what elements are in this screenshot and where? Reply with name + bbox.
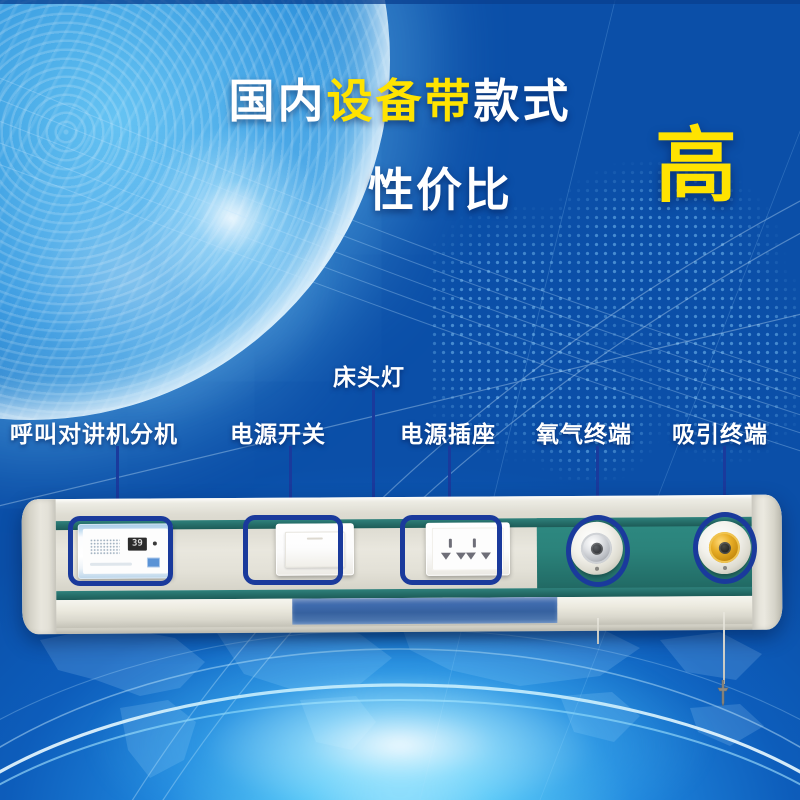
highlight-power-switch [243, 515, 343, 585]
panel-end-cap-right [752, 495, 783, 630]
highlight-oxygen [566, 515, 630, 587]
pull-cord-handle-icon[interactable] [716, 680, 730, 706]
promo-banner: 国内设备带款式 性价比 高 呼叫对讲机分机 电源开关 床头灯 电源插座 氧气终端… [0, 0, 800, 800]
highlight-suction [693, 512, 757, 584]
callout-label-suction: 吸引终端 [672, 415, 768, 449]
highlight-intercom [68, 516, 173, 586]
highlight-power-socket [400, 515, 502, 585]
callout-label-oxygen: 氧气终端 [536, 415, 632, 449]
oxygen-pull-cord [597, 618, 599, 644]
bed-lamp-diffuser[interactable] [292, 597, 557, 625]
suction-pull-cord [723, 612, 725, 684]
callout-group: 呼叫对讲机分机 电源开关 床头灯 电源插座 氧气终端 吸引终端 [0, 0, 800, 800]
panel-end-cap-left [22, 499, 57, 634]
callout-label-power-switch: 电源开关 [230, 415, 326, 449]
callout-label-bed-lamp: 床头灯 [333, 358, 405, 392]
callout-label-power-socket: 电源插座 [400, 415, 496, 449]
callout-label-intercom: 呼叫对讲机分机 [10, 415, 178, 449]
